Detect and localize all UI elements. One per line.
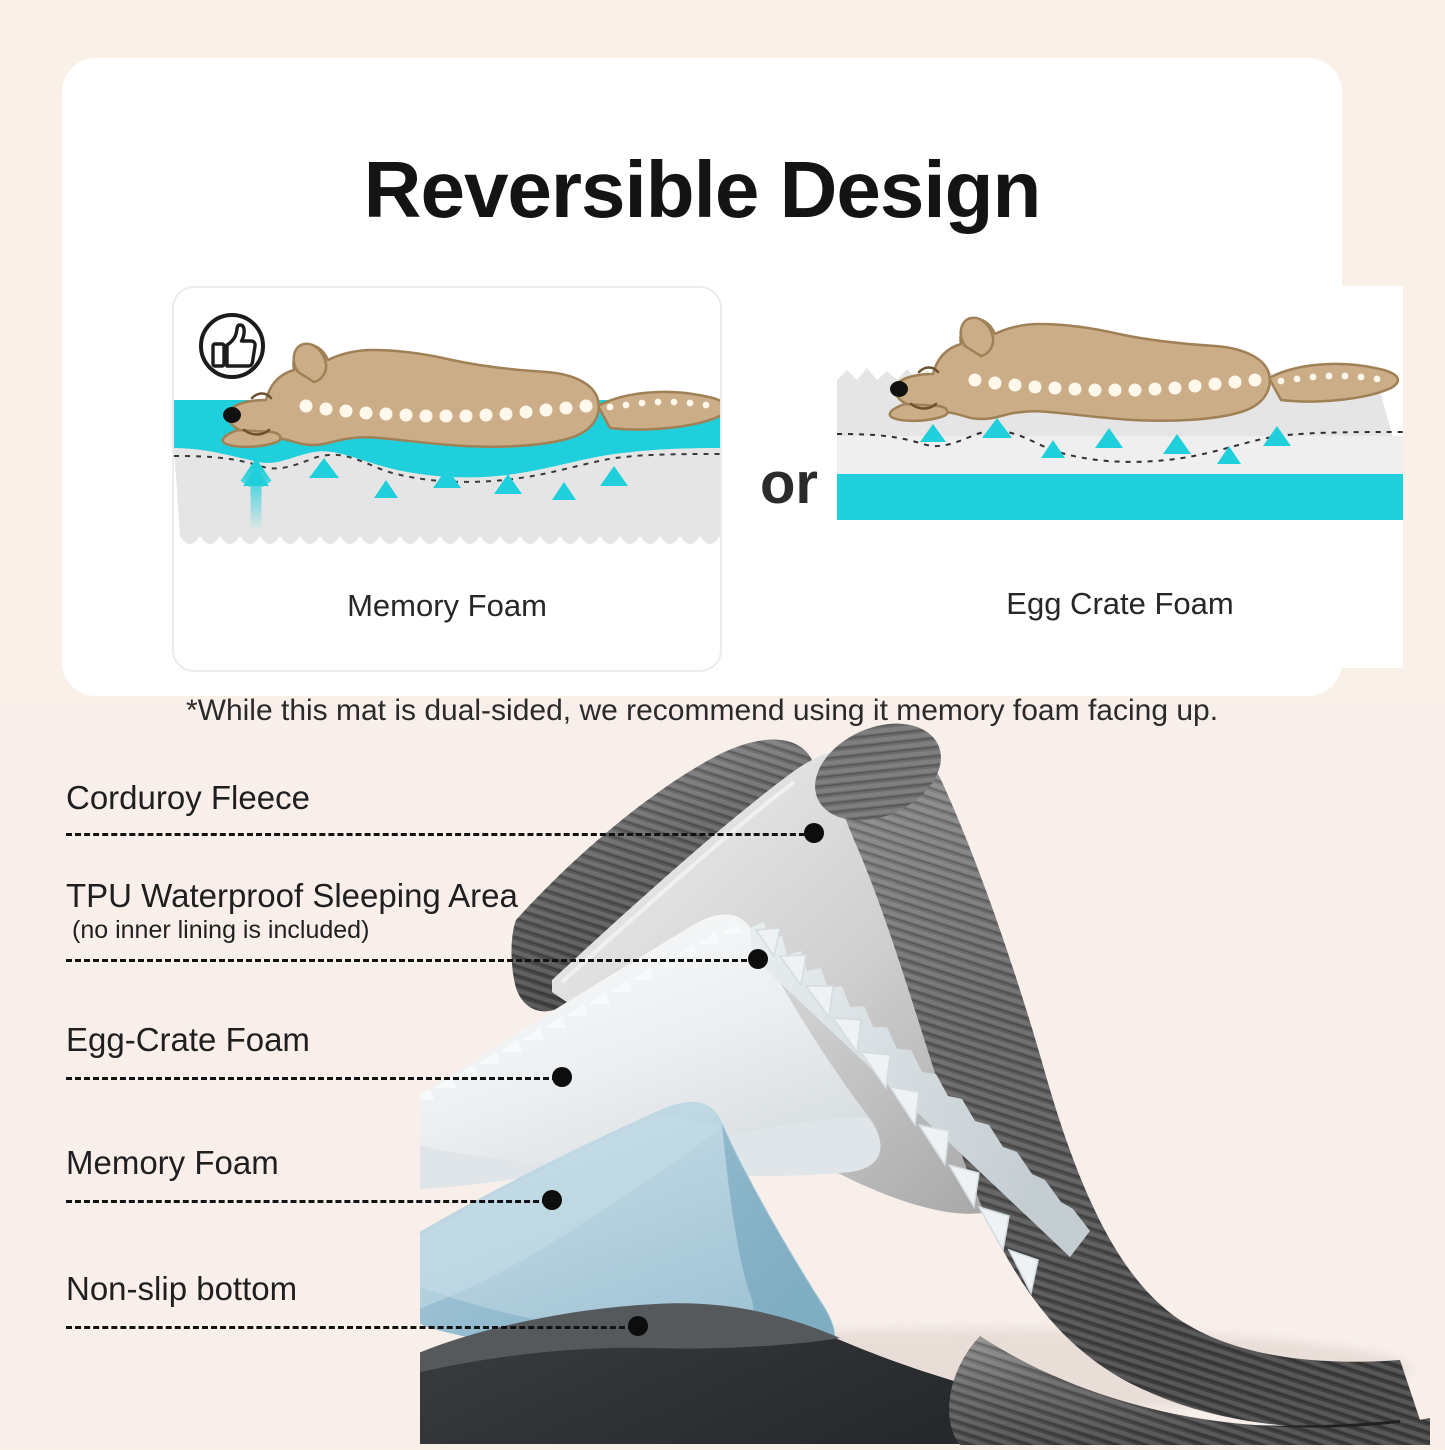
panel-egg-crate-foam: Egg Crate Foam bbox=[837, 286, 1403, 668]
leader-line-memory-foam bbox=[66, 1200, 548, 1203]
leader-dot-corduroy-fleece bbox=[804, 823, 824, 843]
leader-line-corduroy-fleece bbox=[66, 833, 814, 836]
page-title: Reversible Design bbox=[62, 150, 1342, 230]
leader-dot-memory-foam bbox=[542, 1190, 562, 1210]
leader-dot-tpu-waterproof bbox=[748, 949, 768, 969]
leader-line-non-slip-bottom bbox=[66, 1326, 634, 1329]
egg-crate-foam-illustration bbox=[837, 286, 1403, 582]
reversible-design-card: Reversible Design bbox=[62, 58, 1342, 696]
layer-label-subtext: (no inner lining is included) bbox=[66, 916, 518, 945]
thumbs-up-icon bbox=[196, 310, 268, 387]
panel-memory-foam: Memory Foam bbox=[172, 286, 722, 672]
layer-label-text: Corduroy Fleece bbox=[66, 779, 310, 818]
layer-label-non-slip-bottom: Non-slip bottom bbox=[66, 1270, 297, 1309]
leader-dot-egg-crate-foam bbox=[552, 1067, 572, 1087]
panel-caption-egg-crate-foam: Egg Crate Foam bbox=[837, 586, 1403, 622]
or-separator-label: or bbox=[734, 450, 844, 517]
layer-label-tpu-waterproof: TPU Waterproof Sleeping Area (no inner l… bbox=[66, 877, 518, 945]
layered-mat-product-image bbox=[420, 720, 1430, 1445]
layer-label-text: TPU Waterproof Sleeping Area bbox=[66, 877, 518, 916]
leader-dot-non-slip-bottom bbox=[628, 1316, 648, 1336]
layer-label-memory-foam: Memory Foam bbox=[66, 1144, 279, 1183]
layer-label-corduroy-fleece: Corduroy Fleece bbox=[66, 779, 310, 818]
leader-line-egg-crate-foam bbox=[66, 1077, 558, 1080]
leader-line-tpu-waterproof bbox=[66, 959, 756, 962]
layer-label-text: Egg-Crate Foam bbox=[66, 1021, 310, 1060]
layer-label-text: Memory Foam bbox=[66, 1144, 279, 1183]
panel-caption-memory-foam: Memory Foam bbox=[174, 588, 720, 624]
layer-label-text: Non-slip bottom bbox=[66, 1270, 297, 1309]
layer-label-egg-crate-foam: Egg-Crate Foam bbox=[66, 1021, 310, 1060]
